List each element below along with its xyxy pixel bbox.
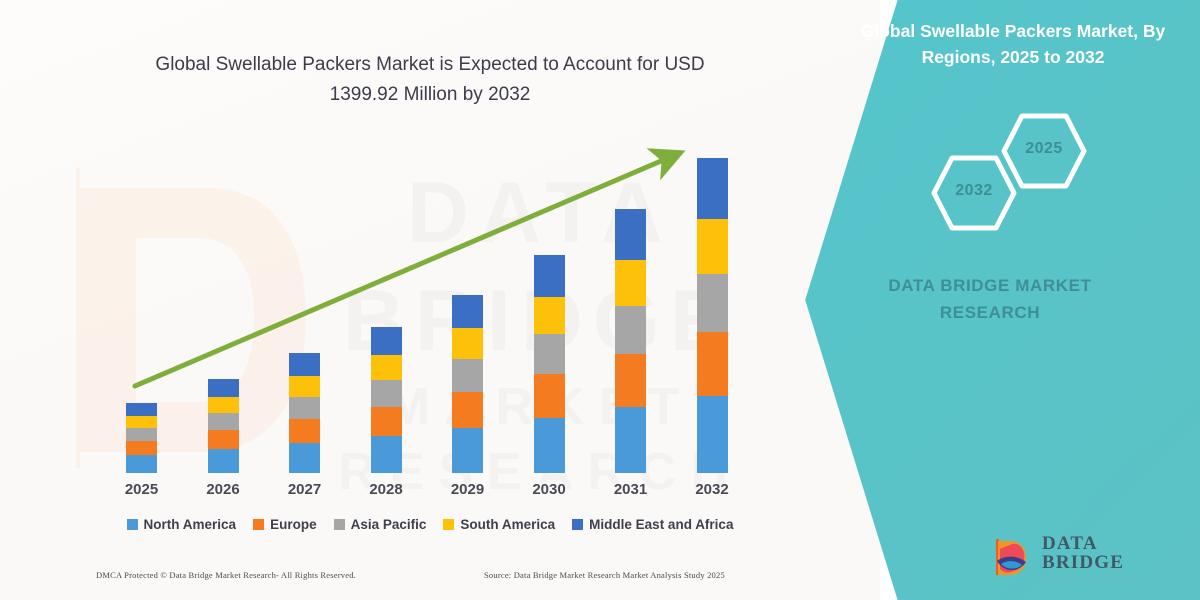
- bar-segment: [371, 407, 402, 436]
- dbmr-logo-subtitle: MARKET RESEARCH: [1042, 575, 1178, 583]
- footer-source: Source: Data Bridge Market Research Mark…: [484, 570, 725, 580]
- legend-swatch: [253, 519, 264, 530]
- infographic-canvas: DATA BRIDGE MARKET RESEARCH Global Swell…: [0, 0, 1200, 600]
- bar-segment: [615, 306, 646, 355]
- hexagon-label-2032: 2032: [930, 182, 1018, 200]
- chart-plot-area: 20252026202720282029203020312032 North A…: [0, 0, 880, 600]
- bar-segment: [371, 327, 402, 355]
- bar-segment: [697, 219, 728, 274]
- x-axis-tick: 2025: [107, 481, 177, 498]
- bar-segment: [126, 441, 157, 455]
- bar-segment: [289, 397, 320, 419]
- legend-label: North America: [144, 517, 237, 532]
- bar-segment: [208, 430, 239, 449]
- legend-swatch: [127, 519, 138, 530]
- bar-segment: [534, 334, 565, 374]
- legend-item[interactable]: Europe: [253, 517, 317, 532]
- x-axis-tick: 2029: [433, 481, 503, 498]
- bar-column: [452, 295, 483, 473]
- bar-column: [615, 209, 646, 473]
- bar-segment: [697, 158, 728, 219]
- bar-segment: [452, 328, 483, 359]
- hexagon-badges: 2025 2032: [912, 112, 1102, 232]
- bar-segment: [534, 255, 565, 297]
- dbmr-logo-name: DATA BRIDGE: [1042, 534, 1178, 572]
- panel-heading: Global Swellable Packers Market, By Regi…: [848, 18, 1178, 71]
- bar-segment: [126, 403, 157, 416]
- legend-item[interactable]: North America: [127, 517, 237, 532]
- x-axis-tick: 2028: [351, 481, 421, 498]
- legend-label: Europe: [270, 517, 317, 532]
- dbmr-logo: DATA BRIDGE MARKET RESEARCH: [988, 532, 1178, 584]
- bar-segment: [452, 295, 483, 329]
- bar-column: [289, 353, 320, 473]
- legend-swatch: [572, 519, 583, 530]
- bar-column: [126, 403, 157, 473]
- bar-segment: [615, 407, 646, 473]
- trend-arrow-icon: [0, 0, 880, 600]
- x-axis-tick: 2030: [514, 481, 584, 498]
- bar-segment: [534, 418, 565, 473]
- bar-column: [208, 379, 239, 473]
- panel-brand-line1: DATA BRIDGE MARKET: [840, 272, 1140, 299]
- chart-legend: North AmericaEuropeAsia PacificSouth Ame…: [0, 517, 860, 532]
- x-axis-tick: 2027: [270, 481, 340, 498]
- legend-item[interactable]: Middle East and Africa: [572, 517, 733, 532]
- bar-segment: [615, 260, 646, 306]
- legend-label: South America: [460, 517, 555, 532]
- panel-brand-line2: RESEARCH: [840, 299, 1140, 326]
- bar-segment: [452, 428, 483, 473]
- bar-segment: [126, 428, 157, 441]
- bar-segment: [208, 379, 239, 397]
- bar-segment: [208, 449, 239, 473]
- bar-segment: [615, 354, 646, 407]
- legend-swatch: [443, 519, 454, 530]
- bar-segment: [534, 374, 565, 418]
- x-axis-labels: 20252026202720282029203020312032: [0, 481, 880, 503]
- bar-segment: [452, 359, 483, 392]
- bar-segment: [289, 353, 320, 376]
- bar-segment: [208, 413, 239, 430]
- bar-segment: [452, 392, 483, 428]
- legend-item[interactable]: South America: [443, 517, 555, 532]
- panel-brand-text: DATA BRIDGE MARKET RESEARCH: [840, 272, 1140, 326]
- x-axis-tick: 2026: [188, 481, 258, 498]
- bar-segment: [371, 355, 402, 380]
- bar-segment: [126, 455, 157, 473]
- bar-segment: [289, 419, 320, 443]
- bar-segment: [534, 297, 565, 335]
- bar-segment: [208, 397, 239, 413]
- bar-segment: [289, 443, 320, 473]
- x-axis-tick: 2031: [596, 481, 666, 498]
- footer-copyright: DMCA Protected © Data Bridge Market Rese…: [96, 570, 356, 580]
- bar-segment: [697, 274, 728, 333]
- legend-label: Asia Pacific: [351, 517, 427, 532]
- hexagon-badge-2032: 2032: [930, 154, 1018, 232]
- bar-column: [697, 158, 728, 473]
- bar-segment: [697, 332, 728, 396]
- bar-segment: [697, 396, 728, 473]
- legend-label: Middle East and Africa: [589, 517, 733, 532]
- dbmr-wordmark: DATA BRIDGE MARKET RESEARCH: [1042, 534, 1178, 583]
- legend-item[interactable]: Asia Pacific: [334, 517, 427, 532]
- bar-segment: [371, 436, 402, 473]
- dbmr-logo-mark-icon: [988, 535, 1034, 581]
- legend-swatch: [334, 519, 345, 530]
- x-axis-tick: 2032: [677, 481, 747, 498]
- bar-column: [371, 327, 402, 473]
- bar-segment: [615, 209, 646, 260]
- bar-segment: [289, 376, 320, 397]
- bar-column: [534, 255, 565, 473]
- bar-segment: [371, 380, 402, 407]
- bar-segment: [126, 416, 157, 428]
